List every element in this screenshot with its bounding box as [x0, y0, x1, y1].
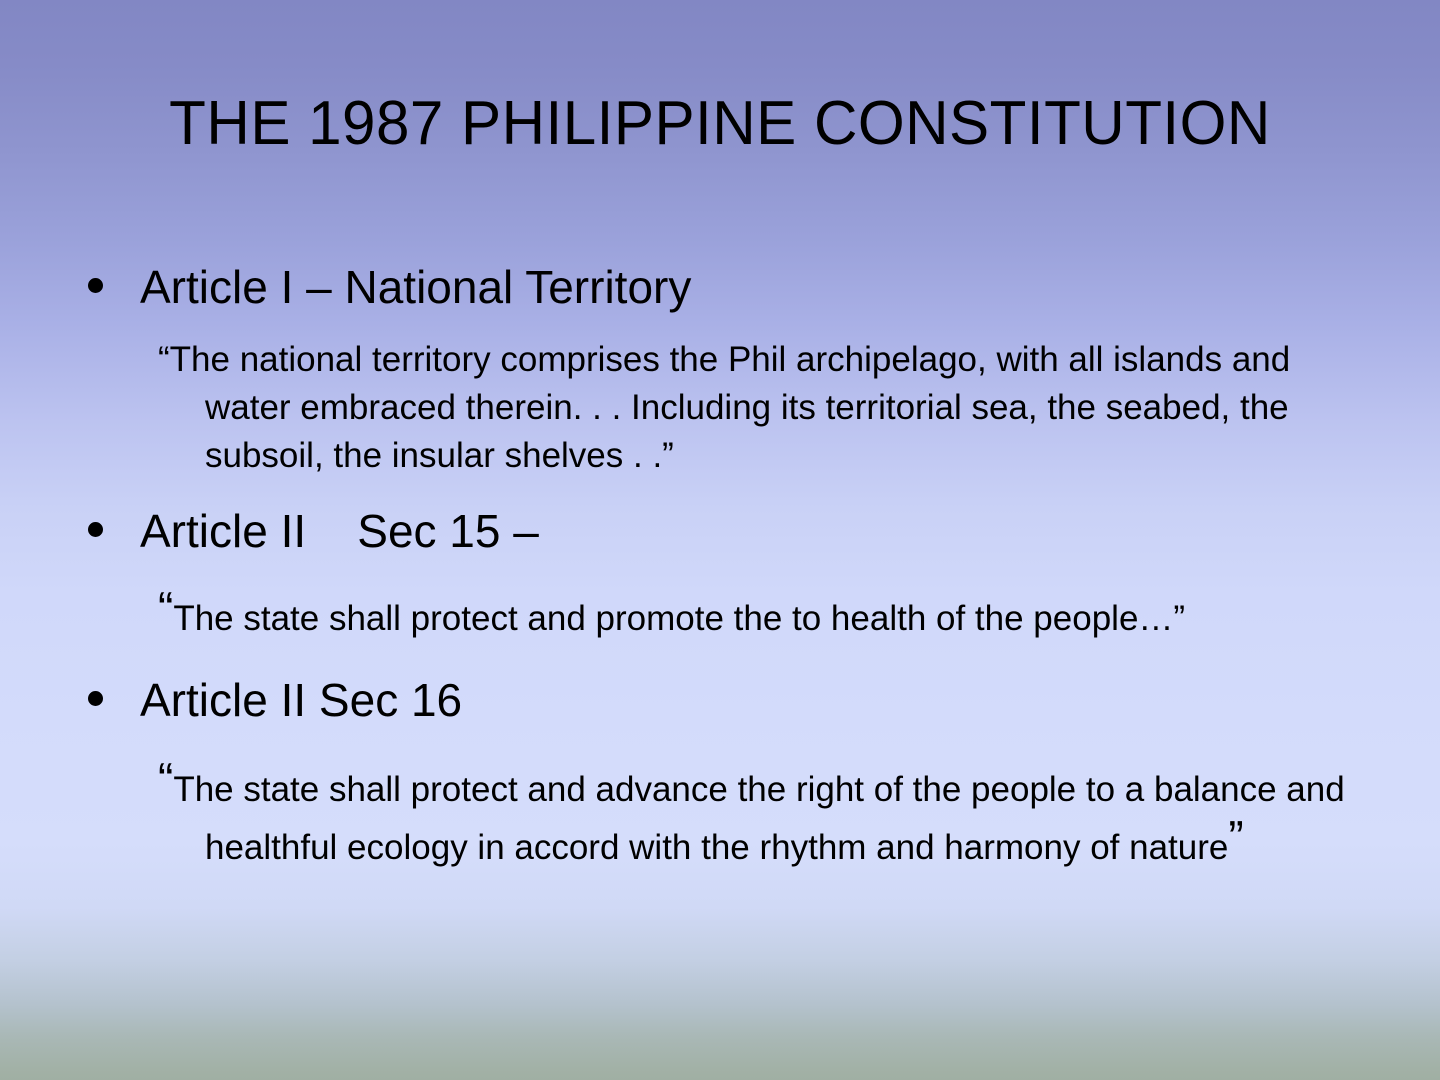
slide-body: Article I – National Territory “The nati… [0, 256, 1440, 877]
quote-text-1: The national territory comprises the Phi… [170, 340, 1291, 475]
bullet-heading-2: Article II Sec 15 – [140, 505, 539, 557]
presentation-slide: THE 1987 PHILIPPINE CONSTITUTION Article… [0, 0, 1440, 1080]
quote-close-mark-2: ” [1173, 599, 1185, 638]
quote-text-2: The state shall protect and promote the … [173, 599, 1173, 638]
spacer [0, 480, 1440, 500]
spacer [0, 731, 1440, 761]
quote-text-3: The state shall protect and advance the … [173, 770, 1344, 867]
bullet-dot-icon [88, 278, 103, 293]
bullet-block-article-2-sec-16: Article II Sec 16 “The state shall prote… [0, 669, 1440, 877]
spacer [0, 643, 1440, 669]
bullet-heading-row-2: Article II Sec 15 – [0, 500, 1440, 562]
quote-close-mark-1: ” [662, 436, 674, 475]
bullet-quote-1: “The national territory comprises the Ph… [0, 336, 1440, 480]
bullet-heading-row-1: Article I – National Territory [0, 256, 1440, 318]
spacer [0, 318, 1440, 336]
slide-title: THE 1987 PHILIPPINE CONSTITUTION [22, 88, 1419, 160]
quote-open-mark-3: “ [158, 753, 173, 805]
bullet-block-article-1: Article I – National Territory “The nati… [0, 256, 1440, 480]
bullet-heading-3: Article II Sec 16 [140, 674, 462, 726]
bullet-dot-icon [88, 522, 103, 537]
quote-close-mark-3: ” [1228, 811, 1243, 863]
quote-open-mark-2: “ [158, 582, 173, 634]
bullet-dot-icon [88, 691, 103, 706]
bullet-heading-row-3: Article II Sec 16 [0, 669, 1440, 731]
bullet-quote-2: “The state shall protect and promote the… [0, 594, 1440, 643]
bullet-heading-1: Article I – National Territory [140, 261, 691, 313]
quote-open-mark-1: “ [158, 340, 170, 379]
spacer [0, 562, 1440, 594]
bullet-quote-3: “The state shall protect and advance the… [0, 761, 1440, 877]
bullet-block-article-2-sec-15: Article II Sec 15 – “The state shall pro… [0, 500, 1440, 643]
